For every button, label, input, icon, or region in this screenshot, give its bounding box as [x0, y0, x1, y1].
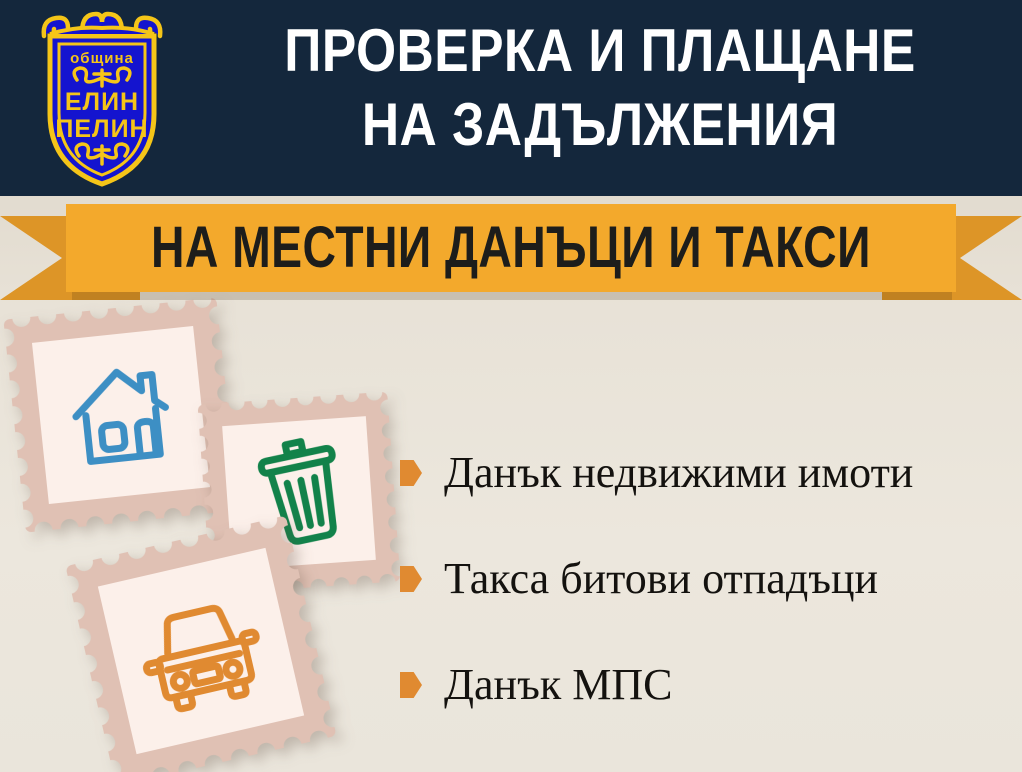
coat-of-arms-icon: община ЕЛИН ПЕЛИН: [22, 6, 182, 190]
municipality-logo: община ЕЛИН ПЕЛИН: [22, 6, 182, 190]
title-line-1: ПРОВЕРКА И ПЛАЩАНЕ: [243, 14, 957, 88]
list-item-vehicle-tax[interactable]: Данък МПС: [400, 632, 1015, 738]
svg-text:ПЕЛИН: ПЕЛИН: [55, 115, 148, 143]
arrow-bullet-icon: [400, 566, 422, 592]
arrow-bullet-icon: [400, 460, 422, 486]
list-item-label: Данък МПС: [444, 660, 672, 710]
svg-text:община: община: [70, 50, 134, 67]
ribbon-label: НА МЕСТНИ ДАНЪЦИ И ТАКСИ: [151, 217, 871, 279]
poster-title: ПРОВЕРКА И ПЛАЩАНЕ НА ЗАДЪЛЖЕНИЯ: [185, 14, 1015, 162]
list-item-label: Данък недвижими имоти: [444, 448, 913, 498]
list-item-waste-fee[interactable]: Такса битови отпадъци: [400, 526, 1015, 632]
subtitle-ribbon: НА МЕСТНИ ДАНЪЦИ И ТАКСИ: [0, 196, 1022, 300]
ribbon-panel: НА МЕСТНИ ДАНЪЦИ И ТАКСИ: [66, 204, 956, 292]
header-bar: община ЕЛИН ПЕЛИН: [0, 0, 1022, 196]
list-item-property-tax[interactable]: Данък недвижими имоти: [400, 420, 1015, 526]
title-line-2: НА ЗАДЪЛЖЕНИЯ: [243, 88, 957, 162]
arrow-bullet-icon: [400, 672, 422, 698]
tax-types-list: Данък недвижими имоти Такса битови отпад…: [400, 420, 1015, 738]
svg-text:ЕЛИН: ЕЛИН: [65, 88, 139, 116]
poster-canvas: община ЕЛИН ПЕЛИН: [0, 0, 1022, 772]
list-item-label: Такса битови отпадъци: [444, 554, 878, 604]
